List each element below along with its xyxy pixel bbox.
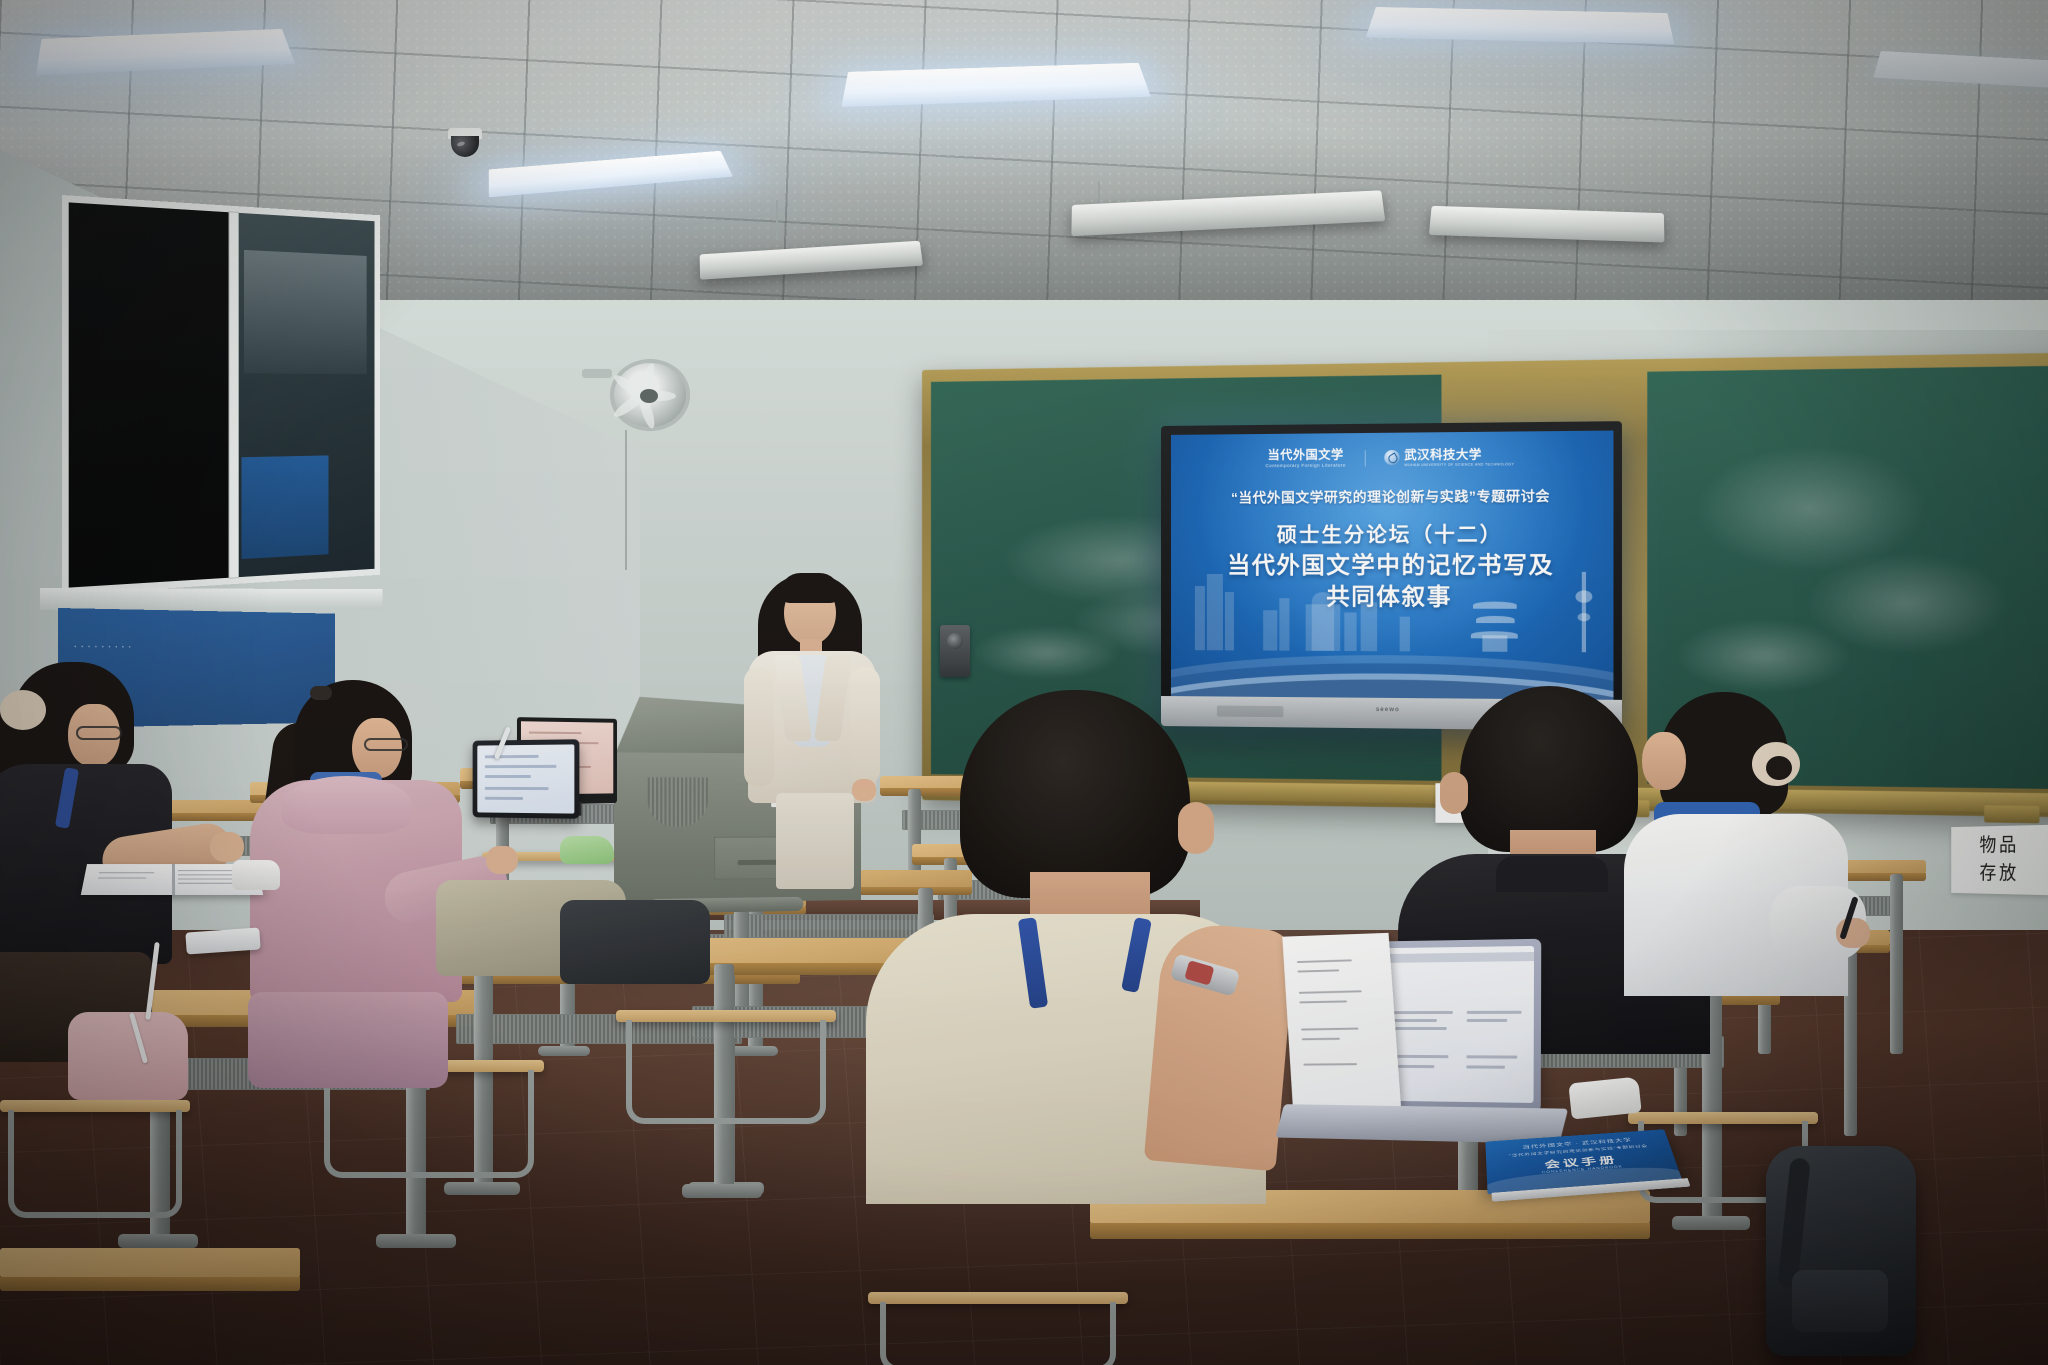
attendee-face [1642,732,1686,790]
slide-subtitle: “当代外国文学研究的理论创新与实践”专题研讨会 [1171,484,1614,507]
hair-scrunchie [0,690,46,730]
journal-logo: 当代外国文学 Contemporary Foreign Literature [1266,448,1346,468]
wall-device-icon [940,625,970,677]
university-logo-zh: 武汉科技大学 [1404,447,1514,460]
university-logo-en: WUHAN UNIVERSITY OF SCIENCE AND TECHNOLO… [1404,462,1514,467]
wall-banner-text: ········· [73,638,134,653]
hair-bun [1766,756,1792,780]
fan-power-cable [625,430,627,570]
journal-logo-zh: 当代外国文学 [1266,448,1346,461]
attendee-ear [1178,802,1214,854]
window-reflection-poster [241,455,328,559]
window-sill [40,588,383,610]
pendant-rod [776,200,778,240]
desk [0,1248,300,1278]
security-camera-icon [448,128,482,158]
green-pouch [560,836,614,864]
attendee-hair [1460,686,1638,852]
attendee-lower-body [248,992,448,1088]
tablet-device[interactable] [473,739,580,819]
presenter-arm-left [744,667,774,787]
chair [0,1100,190,1220]
attendee-hand [486,846,518,874]
backpack [1766,1146,1916,1356]
university-emblem-icon [1384,450,1399,465]
conference-booklet[interactable]: 当代外国文学 · 武汉科技大学 “当代外国文学研究的理论创新与实践”专题研讨会 … [1485,1129,1682,1194]
window-pane-reflective [236,213,375,578]
storage-sign-right: 物品 存放 [1951,825,2048,895]
logo-divider [1364,450,1365,466]
presenter-skirt [776,793,854,889]
attendee-arm [1144,921,1296,1172]
attendee-hand [210,832,244,862]
classroom-photograph: ········· [0,0,2048,1365]
slide-canvas: 当代外国文学 Contemporary Foreign Literature 武… [1171,431,1614,700]
attendee-right-woman [1620,690,1870,1020]
presenter-fringe [780,573,840,603]
slide-skyline-graphic [1171,564,1614,653]
glasses-icon [76,726,122,740]
handbag [68,1012,188,1100]
chair [868,1292,1128,1365]
slide-logo-row: 当代外国文学 Contemporary Foreign Literature 武… [1171,446,1614,469]
glasses-icon [364,738,408,751]
chalk-rail-bracket [1984,805,2039,823]
window-mullion [229,212,238,577]
presentation-display[interactable]: 当代外国文学 Contemporary Foreign Literature 武… [1161,421,1622,731]
printed-handout [1282,933,1401,1107]
hair-tie [310,686,332,700]
tablet-screen [477,744,574,813]
presenter [742,555,882,885]
storage-sign-right-line1: 物品 [1979,832,2019,860]
journal-logo-en: Contemporary Foreign Literature [1266,463,1346,469]
chair [616,1010,836,1126]
tissue [1568,1076,1641,1119]
tissue [232,860,280,890]
storage-sign-right-line2: 存放 [1979,860,2019,888]
tv-tower-icon [1582,572,1586,652]
attendee-hair [960,690,1190,898]
attendee-ear [1440,772,1468,814]
window-pane-dark [69,202,236,587]
university-logo: 武汉科技大学 WUHAN UNIVERSITY OF SCIENCE AND T… [1384,447,1515,466]
attendee-left-black [0,660,212,1060]
jacket-hood [282,776,412,834]
attendee-foreground [866,690,1286,1190]
floor-bag [560,900,710,984]
laptop[interactable] [1301,939,1541,1113]
lectern-vent [648,777,708,827]
jacket-collar [1496,856,1608,892]
window [62,195,380,595]
slide-title-line1: 硕士生分论坛（十二） [1171,521,1614,550]
wall-fan [600,355,695,435]
